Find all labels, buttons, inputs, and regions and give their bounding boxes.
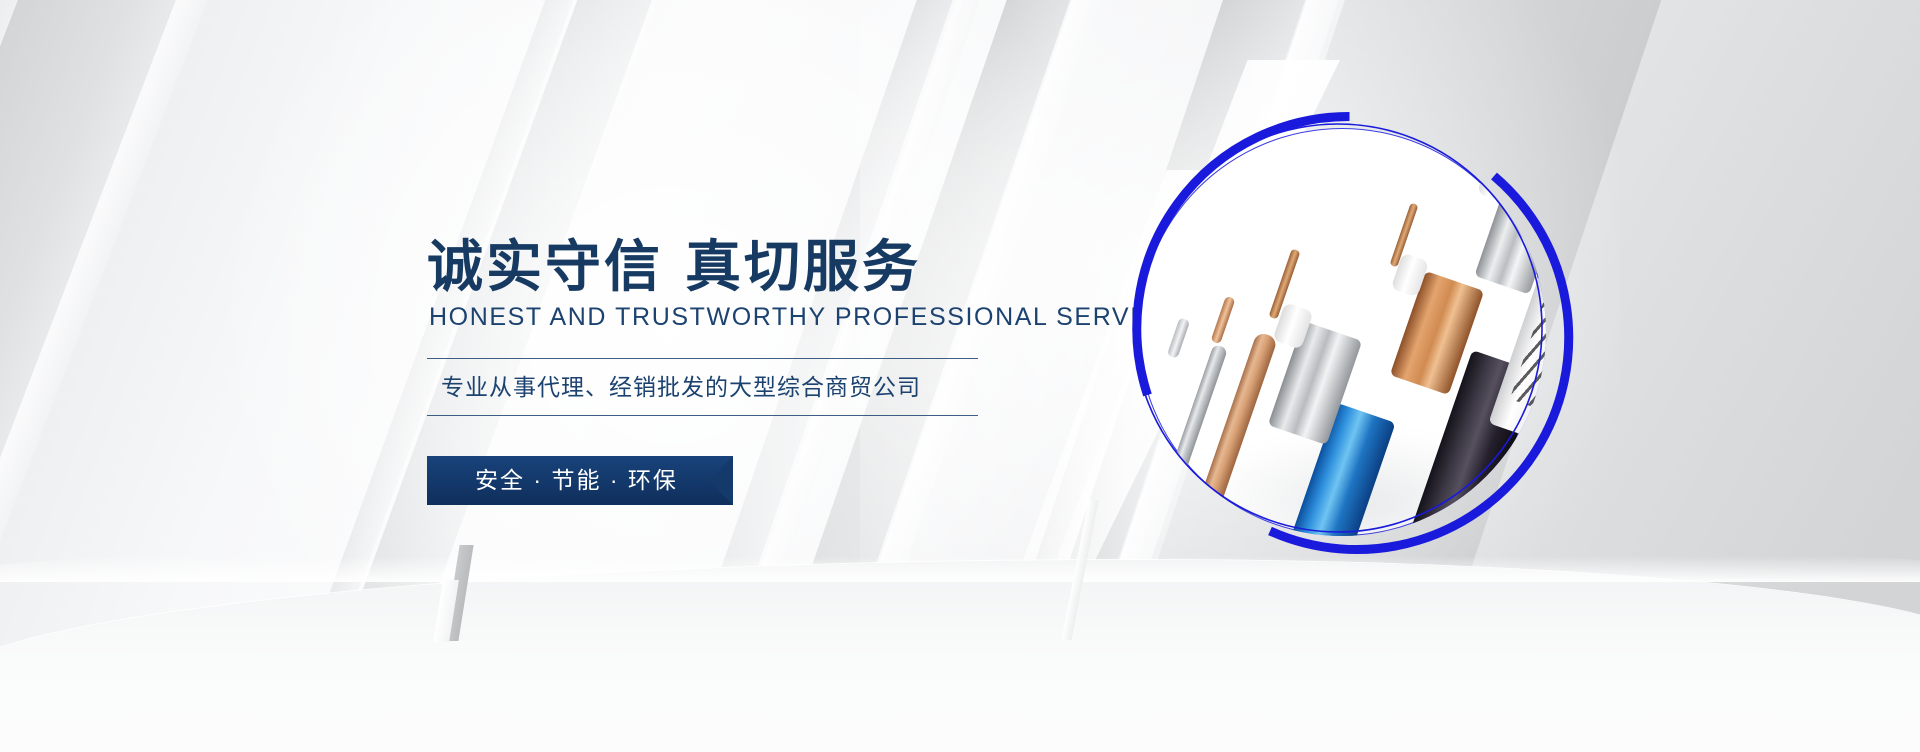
divider-bottom [427, 415, 978, 416]
headline-part-2: 真切服务 [685, 235, 921, 298]
ring-thick-arc-right [1270, 176, 1569, 550]
hero-text-block: 诚实守信真切服务 HONEST AND TRUSTWORTHY PROFESSI… [427, 236, 1047, 510]
tag-label: 安全 · 节能 · 环保 [475, 456, 678, 505]
bg-floor-highlight [0, 556, 1920, 582]
decorative-ring [1120, 110, 1570, 560]
ring-thick-arc-left [1137, 116, 1350, 395]
feature-tag-wrapper: 安全 · 节能 · 环保 [427, 456, 1047, 510]
english-subtitle: HONEST AND TRUSTWORTHY PROFESSIONAL SERV… [429, 302, 1047, 332]
status-badge[interactable]: 安全 · 节能 · 环保 [427, 456, 733, 505]
chinese-subtitle: 专业从事代理、经销批发的大型综合商贸公司 [427, 359, 1047, 415]
page-title: 诚实守信真切服务 [427, 236, 1047, 298]
headline-part-1: 诚实守信 [427, 235, 663, 298]
divider-top [427, 358, 978, 359]
hero-banner: 诚实守信真切服务 HONEST AND TRUSTWORTHY PROFESSI… [0, 0, 1920, 752]
product-circle [1130, 120, 1560, 550]
